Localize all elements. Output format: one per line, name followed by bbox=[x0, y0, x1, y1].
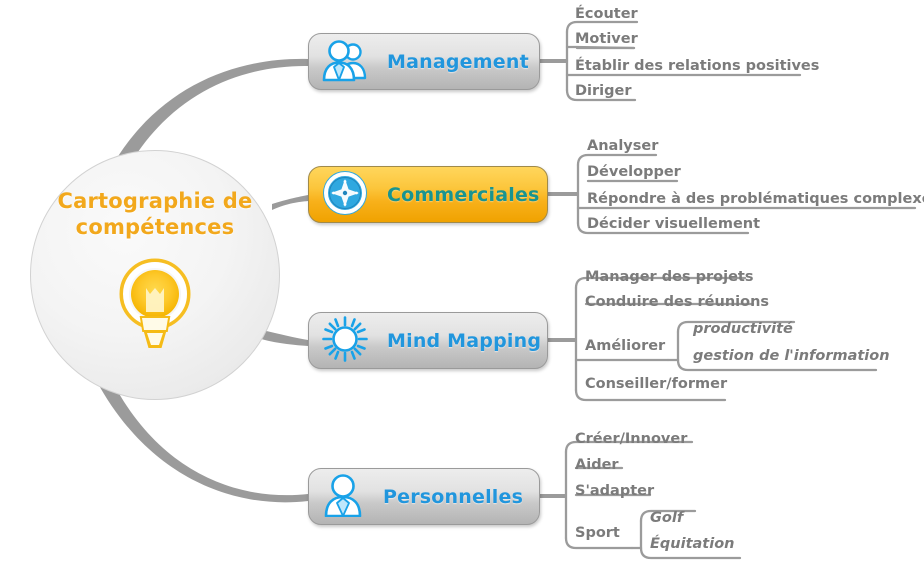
person-icon bbox=[321, 473, 365, 521]
leaf-personnelles-0[interactable]: Créer/Innover bbox=[575, 432, 687, 447]
branch-node-commerciales[interactable]: Commerciales bbox=[308, 166, 548, 223]
leaf-commerciales-2[interactable]: Répondre à des problématiques complexes bbox=[587, 192, 924, 207]
leaf-commerciales-3[interactable]: Décider visuellement bbox=[587, 217, 760, 232]
central-node[interactable]: Cartographie de compétences bbox=[30, 150, 280, 400]
leaf-management-1[interactable]: Motiver bbox=[575, 32, 638, 47]
leaf-personnelles-2[interactable]: S'adapter bbox=[575, 484, 654, 499]
leaf-mind-mapping-2-child-1[interactable]: gestion de l'information bbox=[693, 349, 890, 364]
leaf-personnelles-3-child-1[interactable]: Équitation bbox=[650, 537, 734, 552]
leaf-mind-mapping-1[interactable]: Conduire des réunions bbox=[585, 295, 769, 310]
leaf-commerciales-1[interactable]: Développer bbox=[587, 165, 681, 180]
lightbulb-icon bbox=[112, 254, 198, 356]
mindmap-canvas: Cartographie de compétences bbox=[0, 0, 924, 571]
leaf-personnelles-1[interactable]: Aider bbox=[575, 458, 619, 473]
sun-burst-icon bbox=[321, 315, 369, 367]
leaf-mind-mapping-3[interactable]: Conseiller/former bbox=[585, 377, 727, 392]
leaf-mind-mapping-2[interactable]: Améliorer bbox=[585, 339, 665, 354]
leaf-mind-mapping-2-child-0[interactable]: productivité bbox=[693, 322, 793, 337]
branch-node-personnelles[interactable]: Personnelles bbox=[308, 468, 540, 525]
branch-label-management: Management bbox=[387, 51, 529, 73]
central-node-title: Cartographie de compétences bbox=[48, 189, 263, 240]
leaf-personnelles-3-child-0[interactable]: Golf bbox=[650, 511, 683, 526]
leaf-commerciales-0[interactable]: Analyser bbox=[587, 139, 658, 154]
central-title-line2: compétences bbox=[76, 215, 235, 239]
compass-icon bbox=[321, 169, 369, 221]
leaf-management-3[interactable]: Diriger bbox=[575, 84, 632, 99]
leaf-management-2[interactable]: Établir des relations positives bbox=[575, 59, 819, 74]
leaf-personnelles-3[interactable]: Sport bbox=[575, 526, 620, 541]
branch-label-mind-mapping: Mind Mapping bbox=[387, 330, 541, 352]
branch-node-management[interactable]: Management bbox=[308, 33, 540, 90]
branch-to-bracket-stubs bbox=[540, 61, 578, 496]
connector-to-commerciales bbox=[272, 195, 308, 210]
branch-label-commerciales: Commerciales bbox=[387, 184, 540, 206]
connector-to-mindmapping bbox=[261, 330, 308, 346]
central-title-line1: Cartographie de bbox=[58, 189, 253, 213]
branch-label-personnelles: Personnelles bbox=[383, 486, 523, 508]
leaf-mind-mapping-0[interactable]: Manager des projets bbox=[585, 270, 754, 285]
users-group-icon bbox=[321, 38, 369, 86]
leaf-management-0[interactable]: Écouter bbox=[575, 7, 638, 22]
branch-node-mind-mapping[interactable]: Mind Mapping bbox=[308, 312, 548, 369]
